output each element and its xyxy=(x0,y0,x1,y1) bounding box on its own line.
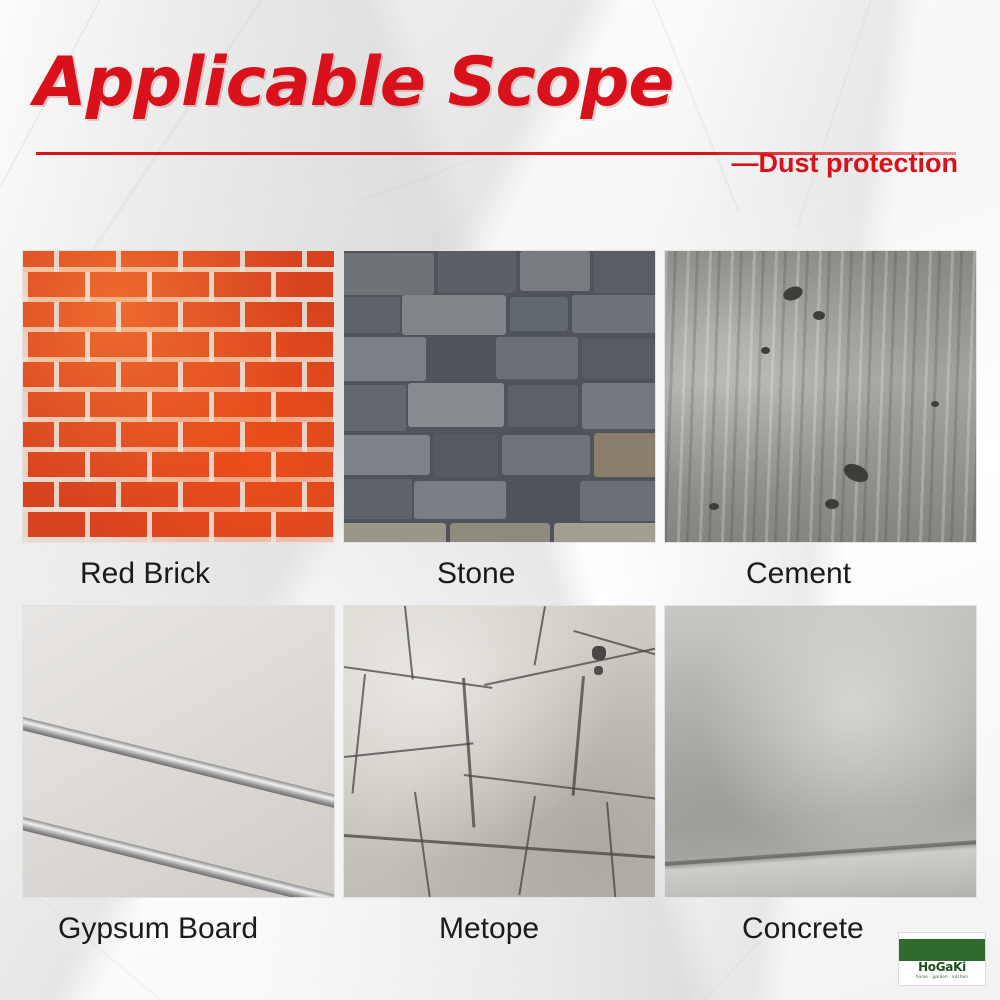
caption-metope: Metope xyxy=(343,898,656,960)
red-brick-texture xyxy=(23,251,334,542)
poster-root: Applicable Scope —Dust protection Red Br… xyxy=(0,0,1000,1000)
page-subtitle: —Dust protection xyxy=(732,148,959,179)
page-title: Applicable Scope xyxy=(34,48,673,118)
caption-gypsum-board: Gypsum Board xyxy=(22,898,335,960)
logo-tagline: home · garden · kitchen xyxy=(916,974,968,979)
caption-cement: Cement xyxy=(664,543,977,605)
gallery-row: Gypsum Board xyxy=(22,605,978,960)
gallery-cell-cement: Cement xyxy=(664,250,977,605)
texture-image-red-brick xyxy=(22,250,335,543)
texture-gallery: Red Brick xyxy=(22,250,978,960)
texture-image-gypsum-board xyxy=(22,605,335,898)
logo-mark-icon xyxy=(899,939,985,961)
gallery-cell-concrete: Concrete xyxy=(664,605,977,960)
concrete-texture xyxy=(665,606,976,897)
caption-stone: Stone xyxy=(343,543,656,605)
texture-image-cement xyxy=(664,250,977,543)
caption-red-brick: Red Brick xyxy=(22,543,335,605)
gallery-cell-stone: Stone xyxy=(343,250,656,605)
stone-texture xyxy=(344,251,655,542)
logo-name: HoGaKi xyxy=(918,961,966,974)
marble-vein xyxy=(796,0,872,229)
marble-vein xyxy=(357,160,470,203)
metope-texture xyxy=(344,606,655,897)
gypsum-board-texture xyxy=(23,606,334,897)
texture-image-stone xyxy=(343,250,656,543)
cement-texture xyxy=(665,251,976,542)
texture-image-metope xyxy=(343,605,656,898)
gallery-cell-red-brick: Red Brick xyxy=(22,250,335,605)
gallery-row: Red Brick xyxy=(22,250,978,605)
concrete-skirting xyxy=(665,841,976,897)
gallery-cell-metope: Metope xyxy=(343,605,656,960)
gallery-cell-gypsum-board: Gypsum Board xyxy=(22,605,335,960)
texture-image-concrete xyxy=(664,605,977,898)
brand-logo: HoGaKi home · garden · kitchen xyxy=(898,932,986,986)
